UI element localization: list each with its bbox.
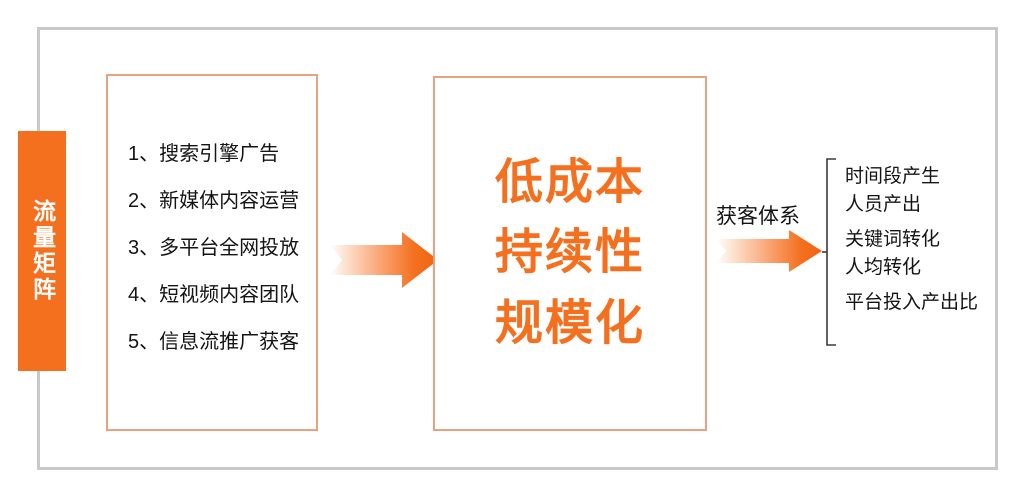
metric-list: 时间段产生 人员产出 关键词转化 人均转化 平台投入产出比 bbox=[845, 167, 995, 312]
center-value-box: 低成本 持续性 规模化 bbox=[433, 76, 707, 431]
list-item-label: 新媒体内容运营 bbox=[159, 189, 299, 214]
list-item-number: 5、 bbox=[128, 330, 159, 355]
channel-list: 1、 搜索引擎广告 2、 新媒体内容运营 3、 多平台全网投放 4、 短视频内容… bbox=[108, 76, 316, 429]
list-item-label: 短视频内容团队 bbox=[159, 283, 299, 308]
list-item: 4、 短视频内容团队 bbox=[108, 283, 316, 308]
list-item-number: 2、 bbox=[128, 189, 159, 214]
list-item-label: 多平台全网投放 bbox=[159, 236, 299, 261]
vertical-label-text: 流量矩阵 bbox=[18, 131, 66, 371]
list-item: 5、 信息流推广获客 bbox=[108, 330, 316, 355]
list-item-number: 3、 bbox=[128, 236, 159, 261]
headline-group: 低成本 持续性 规模化 bbox=[435, 78, 705, 429]
headline-line-1: 低成本 bbox=[495, 158, 645, 208]
arrow-right-small bbox=[716, 230, 822, 272]
connector-label: 获客体系 bbox=[716, 200, 800, 230]
arrow-right-large bbox=[330, 232, 438, 288]
list-item: 1、 搜索引擎广告 bbox=[108, 142, 316, 167]
vertical-label-bar: 流量矩阵 bbox=[18, 131, 66, 371]
metric-item: 时间段产生 bbox=[845, 167, 995, 186]
metric-item: 人员产出 bbox=[845, 195, 995, 214]
headline-line-2: 持续性 bbox=[495, 228, 645, 278]
metric-item: 关键词转化 bbox=[845, 230, 995, 249]
diagram-canvas: 流量矩阵 1、 搜索引擎广告 2、 新媒体内容运营 3、 多平台全网投放 4、 … bbox=[0, 0, 1030, 500]
list-item-label: 搜索引擎广告 bbox=[159, 142, 279, 167]
metric-item: 平台投入产出比 bbox=[845, 293, 995, 312]
headline-line-3: 规模化 bbox=[495, 299, 645, 349]
metric-item: 人均转化 bbox=[845, 258, 995, 277]
group-bracket-icon bbox=[822, 158, 844, 346]
list-item-number: 4、 bbox=[128, 283, 159, 308]
list-item: 3、 多平台全网投放 bbox=[108, 236, 316, 261]
list-item-label: 信息流推广获客 bbox=[159, 330, 299, 355]
left-channel-box: 1、 搜索引擎广告 2、 新媒体内容运营 3、 多平台全网投放 4、 短视频内容… bbox=[106, 74, 318, 431]
list-item: 2、 新媒体内容运营 bbox=[108, 189, 316, 214]
list-item-number: 1、 bbox=[128, 142, 159, 167]
